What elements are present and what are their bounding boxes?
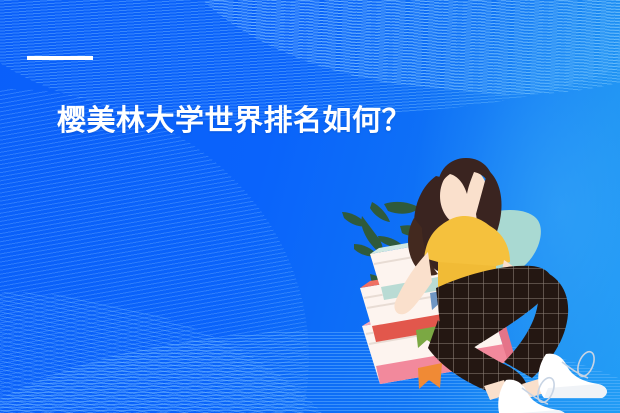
title-accent-rule [27, 56, 93, 60]
shoe-upper [538, 349, 607, 398]
page-title: 樱美林大学世界排名如何？ [57, 104, 411, 139]
banner-card: 樱美林大学世界排名如何？ [0, 0, 620, 413]
wave-left-layer [0, 39, 354, 413]
illustration-woman-reading [318, 148, 620, 413]
